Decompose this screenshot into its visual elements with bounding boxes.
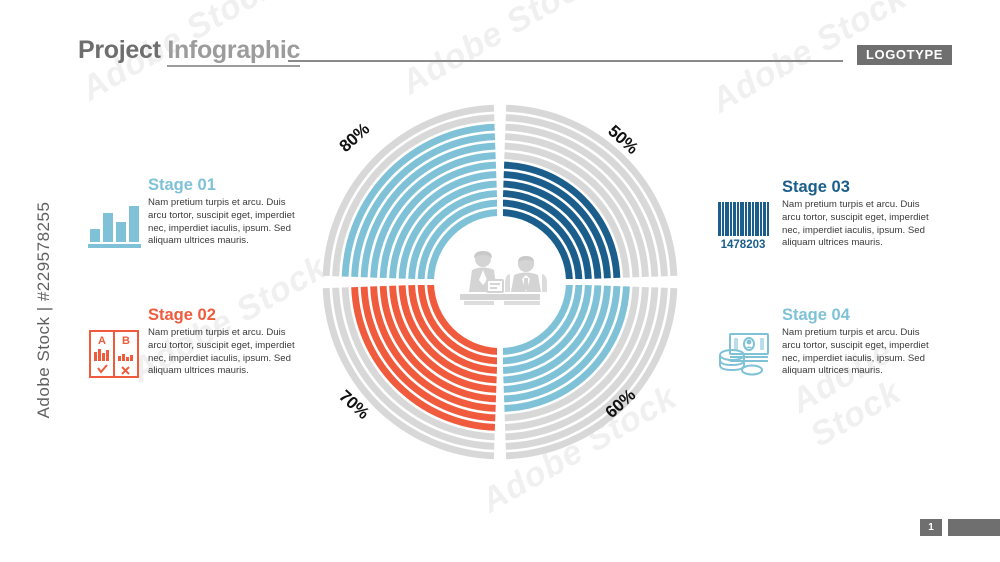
stage-title-02: Stage 02 <box>148 306 300 324</box>
barcode-number: 1478203 <box>721 239 766 251</box>
bar-chart-icon <box>86 198 144 250</box>
svg-text:A: A <box>98 335 106 347</box>
stage-text-02: Stage 02 Nam pretium turpis et arcu. Dui… <box>148 306 300 378</box>
money-icon <box>716 328 774 380</box>
page-title-light: Infographic <box>167 36 300 67</box>
page-number-badge: 1 <box>920 519 942 536</box>
stage-body-01: Nam pretium turpis et arcu. Duis arcu to… <box>148 197 300 248</box>
stock-watermark-sidebar: Adobe Stock | #229578255 <box>34 180 54 440</box>
barcode-icon: 1478203 <box>716 200 774 252</box>
stage-text-03: Stage 03 Nam pretium turpis et arcu. Dui… <box>782 178 932 250</box>
svg-text:B: B <box>122 335 130 347</box>
stage-title-04: Stage 04 <box>782 306 932 324</box>
ab-test-icon: A B <box>86 328 144 380</box>
stage-title-03: Stage 03 <box>782 178 932 196</box>
page-title: Project Infographic <box>78 36 300 65</box>
stage-text-01: Stage 01 Nam pretium turpis et arcu. Dui… <box>148 176 300 248</box>
page-header: Project Infographic LOGOTYPE <box>0 36 1000 76</box>
footer-bar <box>948 519 1000 536</box>
stage-title-01: Stage 01 <box>148 176 300 194</box>
page-title-strong: Project <box>78 36 161 64</box>
stage-text-04: Stage 04 Nam pretium turpis et arcu. Dui… <box>782 306 932 378</box>
stage-body-04: Nam pretium turpis et arcu. Duis arcu to… <box>782 327 932 378</box>
stage-body-02: Nam pretium turpis et arcu. Duis arcu to… <box>148 327 300 378</box>
logotype-badge: LOGOTYPE <box>857 45 952 65</box>
stage-body-03: Nam pretium turpis et arcu. Duis arcu to… <box>782 199 932 250</box>
header-divider <box>288 60 843 62</box>
